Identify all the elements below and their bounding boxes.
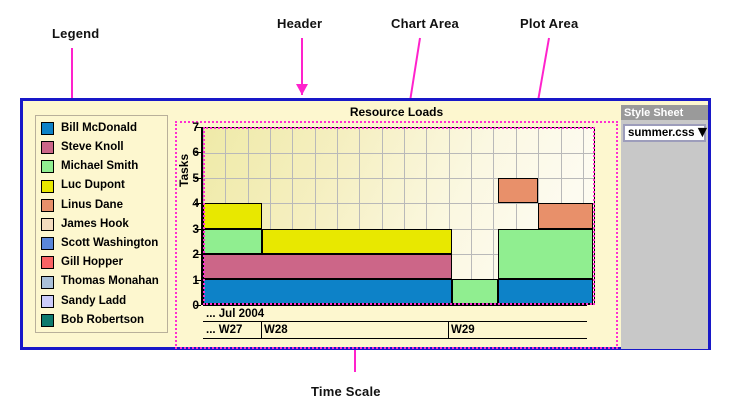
- resource-bar[interactable]: [203, 229, 262, 254]
- y-axis-tick-mark: [195, 254, 201, 255]
- y-axis-tick-mark: [195, 305, 201, 306]
- legend-item[interactable]: Luc Dupont: [36, 177, 167, 196]
- grid-line-vertical: [471, 128, 472, 304]
- legend-item[interactable]: Gill Hopper: [36, 253, 167, 272]
- time-scale-divider: [448, 322, 449, 338]
- resource-bar[interactable]: [203, 279, 452, 304]
- chart-area: Resource Loads Tasks 76543210 ... Jul 20…: [175, 105, 618, 349]
- resource-bar[interactable]: [498, 178, 539, 203]
- time-scale-divider: [261, 322, 262, 338]
- legend-item[interactable]: Steve Knoll: [36, 138, 167, 157]
- legend-item[interactable]: Thomas Monahan: [36, 273, 167, 292]
- legend-color-swatch-icon: [41, 237, 54, 250]
- resource-bar[interactable]: [203, 203, 262, 228]
- legend-item-label: Bill McDonald: [61, 123, 137, 135]
- time-scale-cell[interactable]: W29: [448, 322, 587, 338]
- plot-wrapper: Tasks 76543210: [201, 127, 611, 317]
- legend-panel: Bill McDonaldSteve KnollMichael SmithLuc…: [35, 115, 168, 333]
- time-scale-cell[interactable]: ... W27: [203, 322, 261, 338]
- legend-color-swatch-icon: [41, 256, 54, 269]
- legend-color-swatch-icon: [41, 141, 54, 154]
- legend-item[interactable]: Linus Dane: [36, 196, 167, 215]
- time-scale-cell[interactable]: W28: [261, 322, 448, 338]
- resource-bar[interactable]: [452, 279, 498, 304]
- plot-area: [203, 127, 595, 305]
- time-scale-month-row: ... Jul 2004: [203, 305, 587, 322]
- time-scale-cell[interactable]: ... Jul 2004: [203, 306, 587, 321]
- applet-window: Bill McDonaldSteve KnollMichael SmithLuc…: [20, 98, 711, 350]
- legend-item-label: James Hook: [61, 219, 129, 231]
- resource-bar[interactable]: [203, 254, 452, 279]
- legend-color-swatch-icon: [41, 314, 54, 327]
- y-axis-tick-mark: [195, 280, 201, 281]
- style-sheet-selected-value: summer.css: [625, 127, 695, 139]
- resource-bar[interactable]: [498, 229, 593, 279]
- time-scale[interactable]: ... Jul 2004 ... W27W28W29: [203, 305, 587, 339]
- legend-color-swatch-icon: [41, 122, 54, 135]
- legend-item[interactable]: Michael Smith: [36, 157, 167, 176]
- annotation-label-time-scale: Time Scale: [311, 384, 381, 399]
- legend-color-swatch-icon: [41, 160, 54, 173]
- legend-item-label: Steve Knoll: [61, 142, 124, 154]
- resource-bar[interactable]: [498, 279, 593, 304]
- legend-color-swatch-icon: [41, 199, 54, 212]
- legend-item-label: Sandy Ladd: [61, 296, 126, 308]
- grid-line-horizontal: [203, 153, 594, 154]
- annotation-arrow-header: [292, 28, 312, 105]
- time-scale-week-row: ... W27W28W29: [203, 322, 587, 339]
- legend-color-swatch-icon: [41, 218, 54, 231]
- legend-item-label: Scott Washington: [61, 238, 158, 250]
- legend-item-label: Thomas Monahan: [61, 276, 159, 288]
- style-sheet-select[interactable]: summer.css ▼: [623, 124, 706, 142]
- y-axis-tick-mark: [195, 152, 201, 153]
- y-axis-tick-mark: [195, 203, 201, 204]
- legend-color-swatch-icon: [41, 180, 54, 193]
- legend-item-label: Gill Hopper: [61, 257, 123, 269]
- legend-item-label: Michael Smith: [61, 161, 138, 173]
- y-axis-tick-mark: [195, 178, 201, 179]
- legend-item-label: Linus Dane: [61, 200, 123, 212]
- legend-item[interactable]: James Hook: [36, 215, 167, 234]
- legend-item-label: Bob Robertson: [61, 315, 144, 327]
- y-axis-tick-mark: [195, 127, 201, 128]
- resource-bar[interactable]: [538, 203, 593, 228]
- resource-bar[interactable]: [262, 229, 452, 254]
- legend-color-swatch-icon: [41, 276, 54, 289]
- style-sheet-title: Style Sheet: [621, 105, 708, 120]
- legend-item-label: Luc Dupont: [61, 180, 125, 192]
- chevron-down-icon[interactable]: ▼: [695, 124, 711, 142]
- legend-item[interactable]: Scott Washington: [36, 234, 167, 253]
- legend-item[interactable]: Bill McDonald: [36, 119, 167, 138]
- legend-item[interactable]: Sandy Ladd: [36, 292, 167, 311]
- chart-header-title: Resource Loads: [175, 105, 618, 119]
- style-sheet-panel: Style Sheet summer.css ▼: [621, 105, 708, 349]
- y-axis-tick-mark: [195, 229, 201, 230]
- grid-line-vertical: [493, 128, 494, 304]
- legend-color-swatch-icon: [41, 295, 54, 308]
- legend-item[interactable]: Bob Robertson: [36, 311, 167, 330]
